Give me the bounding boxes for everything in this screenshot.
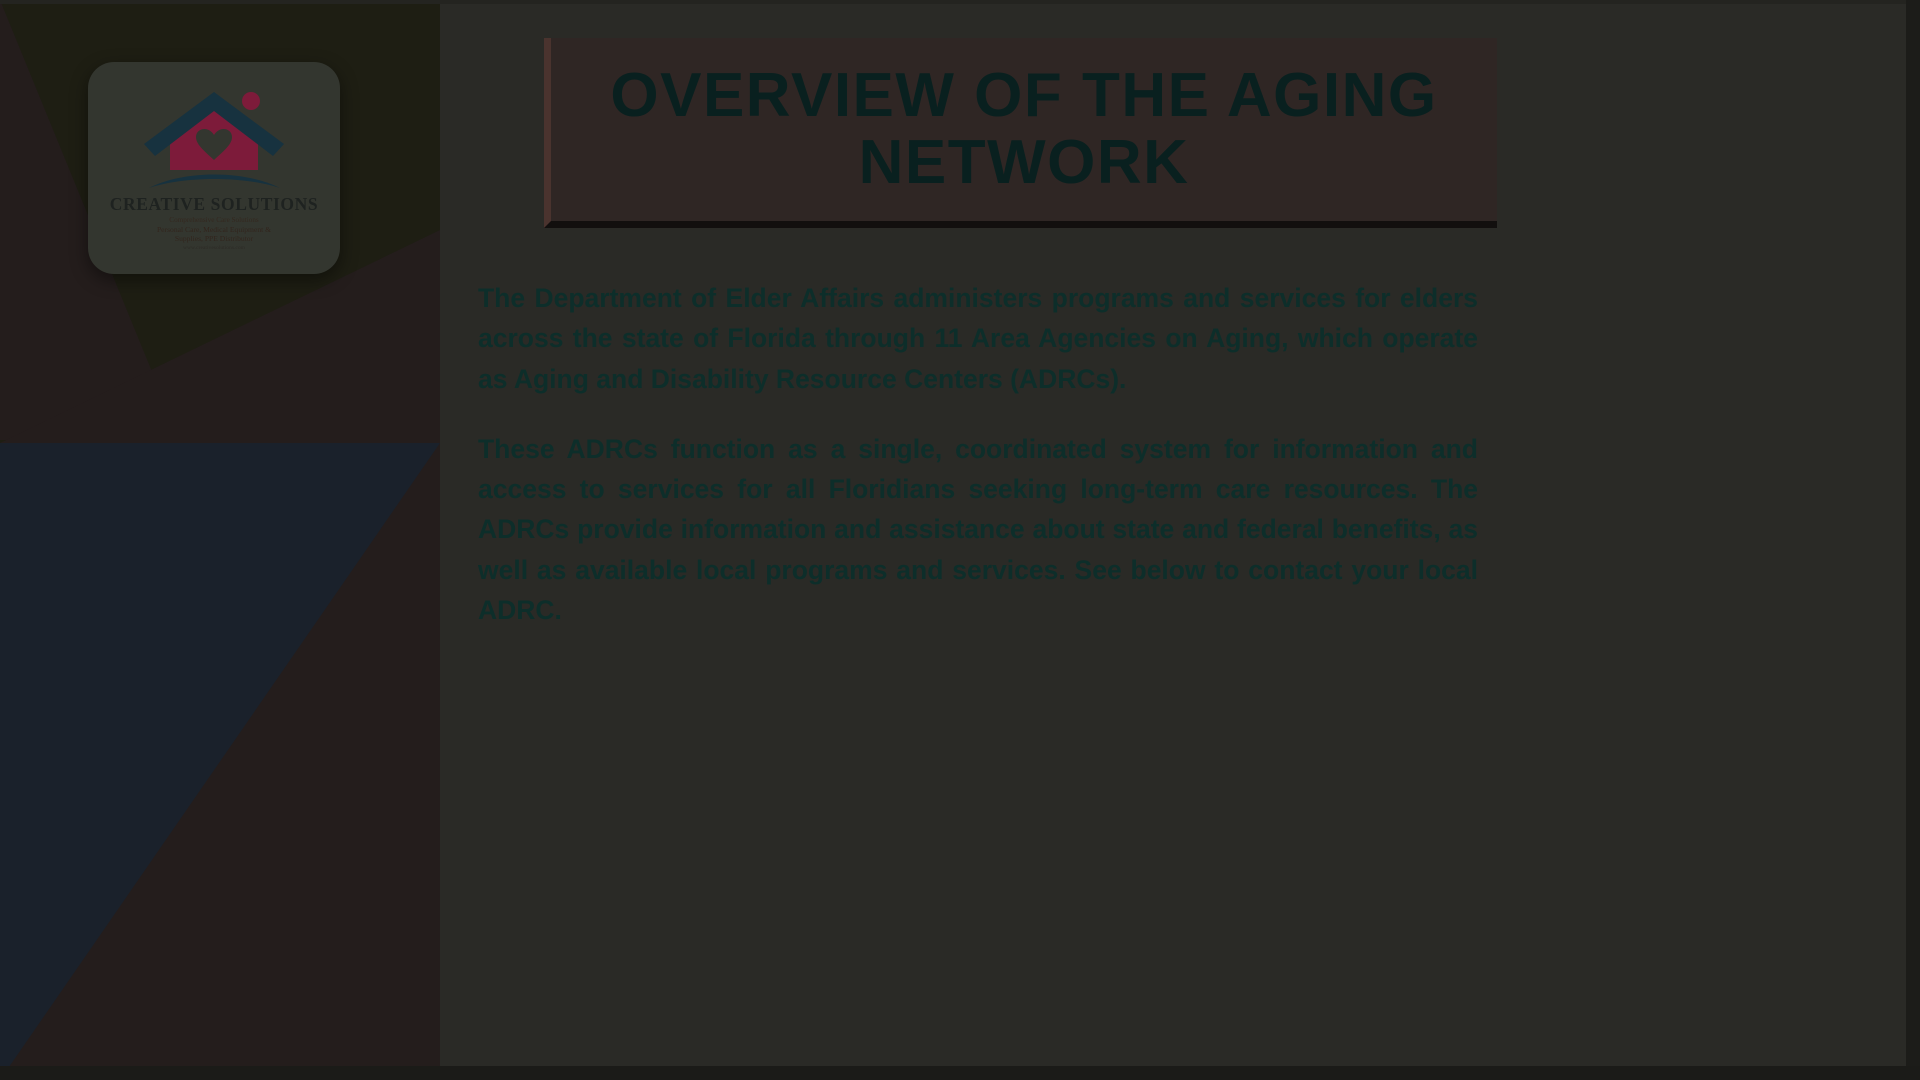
logo-subtitle-line-1: Comprehensive Care Solutions	[169, 216, 258, 225]
body-paragraph-2: These ADRCs function as a single, coordi…	[478, 429, 1478, 630]
logo-subtitle-line-2: Personal Care, Medical Equipment &	[157, 225, 271, 234]
content-area: OVERVIEW OF THE AGING NETWORK The Depart…	[440, 0, 1920, 1080]
slide-root: CREATIVE SOLUTIONS Comprehensive Care So…	[0, 0, 1920, 1080]
page-title: OVERVIEW OF THE AGING NETWORK	[589, 63, 1459, 197]
title-banner: OVERVIEW OF THE AGING NETWORK	[544, 38, 1497, 228]
logo-wordmark: CREATIVE SOLUTIONS	[110, 194, 318, 215]
slide-frame-right	[1906, 0, 1920, 1080]
slide-frame-top	[0, 0, 1920, 4]
body-paragraph-1: The Department of Elder Affairs administ…	[478, 278, 1478, 399]
sidebar: CREATIVE SOLUTIONS Comprehensive Care So…	[0, 0, 440, 1080]
logo-subtitle-line-4: www.creativesolutions.com	[183, 245, 245, 252]
body-text-block: The Department of Elder Affairs administ…	[478, 278, 1478, 630]
logo-card: CREATIVE SOLUTIONS Comprehensive Care So…	[88, 62, 340, 274]
house-with-heart-logo-icon	[139, 84, 289, 192]
slide-frame-bottom	[0, 1066, 1920, 1080]
logo-subtitle-line-3: Supplies, PPE Distributor	[175, 234, 253, 243]
